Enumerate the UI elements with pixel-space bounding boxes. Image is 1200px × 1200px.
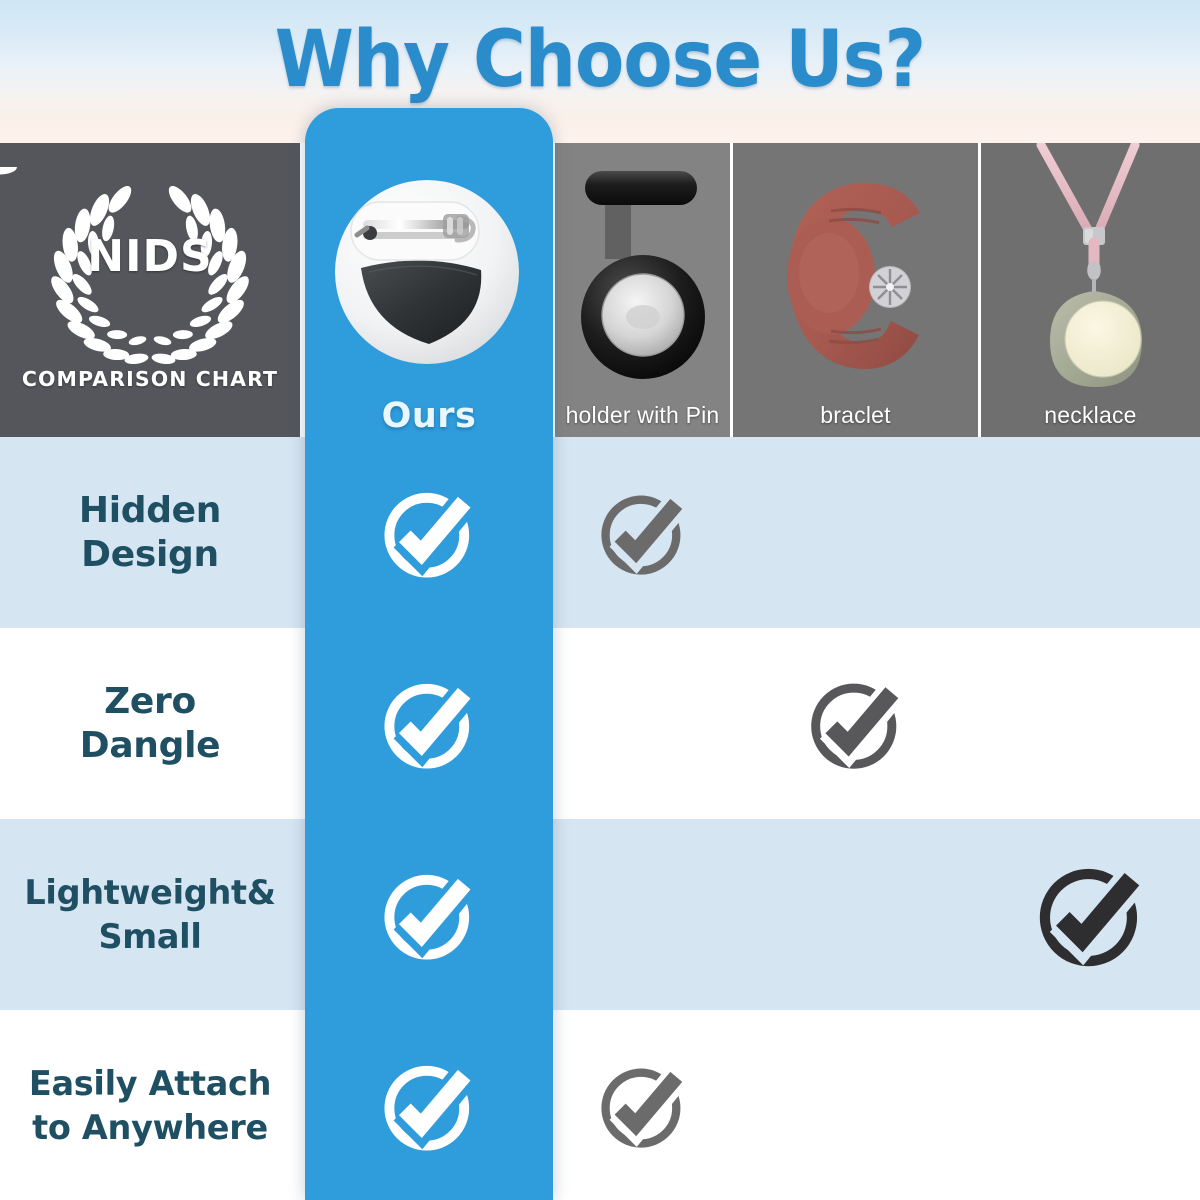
- product-label-bracelet: braclet: [733, 402, 978, 429]
- lanyard-necklace-pendant-icon: [1025, 143, 1165, 398]
- feature-label-zero-dangle: Zero Dangle: [0, 628, 300, 819]
- check-cell-pin: [555, 437, 730, 628]
- feature-label-line1: Easily Attach: [29, 1064, 271, 1103]
- check-circle-icon: [374, 669, 484, 779]
- product-cell-necklace: necklace: [981, 143, 1200, 437]
- feature-label-line2: Small: [98, 917, 201, 956]
- brand-logo-cell: NIDS COMPARISON CHART: [0, 143, 300, 437]
- feature-label-line1: Lightweight&: [24, 873, 275, 912]
- feature-label-lightweight-small: Lightweight& Small: [0, 819, 300, 1010]
- product-label-necklace: necklace: [981, 402, 1200, 429]
- feature-label-line1: Zero: [104, 681, 196, 722]
- comparison-chart-infographic: Why Choose Us?: [0, 0, 1200, 1200]
- silicone-bracelet-icon: [773, 169, 938, 389]
- check-cell-ours: [305, 628, 553, 819]
- title-banner: Why Choose Us?: [0, 0, 1200, 143]
- feature-label-easily-attach: Easily Attach to Anywhere: [0, 1010, 300, 1200]
- check-circle-icon: [800, 668, 912, 780]
- feature-rows: Hidden Design: [0, 437, 1200, 1200]
- check-circle-icon: [1027, 851, 1155, 979]
- page-title: Why Choose Us?: [48, 14, 1152, 106]
- table-row: Easily Attach to Anywhere: [0, 1010, 1200, 1200]
- table-row: Hidden Design: [0, 437, 1200, 628]
- brand-name: NIDS: [0, 231, 300, 282]
- check-cell-necklace: [981, 819, 1200, 1010]
- airtag-pin-holder-white-icon: [323, 160, 535, 377]
- product-header-row: NIDS COMPARISON CHART: [0, 143, 1200, 437]
- check-cell-necklace: [981, 437, 1200, 628]
- check-cell-pin: [555, 1010, 730, 1200]
- feature-label-line2: to Anywhere: [32, 1108, 268, 1147]
- check-circle-icon: [591, 481, 695, 585]
- laurel-wreath-icon: [0, 167, 300, 397]
- check-cell-pin: [555, 819, 730, 1010]
- check-cell-necklace: [981, 1010, 1200, 1200]
- check-cell-ours: [305, 819, 553, 1010]
- feature-label-line1: Hidden: [79, 490, 221, 531]
- airtag-black-pin-holder-icon: [577, 165, 709, 395]
- check-cell-pin: [555, 628, 730, 819]
- check-cell-necklace: [981, 628, 1200, 819]
- check-circle-icon: [374, 860, 484, 970]
- product-cell-pin: holder with Pin: [555, 143, 730, 437]
- check-cell-bracelet: [733, 628, 978, 819]
- check-circle-icon: [374, 1051, 484, 1161]
- table-row: Lightweight& Small: [0, 819, 1200, 1010]
- feature-label-line2: Dangle: [80, 725, 221, 766]
- brand-subtitle: COMPARISON CHART: [0, 367, 300, 391]
- check-cell-ours: [305, 1010, 553, 1200]
- product-label-ours: Ours: [305, 396, 553, 436]
- check-cell-bracelet: [733, 819, 978, 1010]
- check-cell-bracelet: [733, 1010, 978, 1200]
- product-label-pin: holder with Pin: [555, 402, 730, 429]
- feature-label-line2: Design: [81, 534, 219, 575]
- check-cell-bracelet: [733, 437, 978, 628]
- check-circle-icon: [374, 478, 484, 588]
- check-cell-ours: [305, 437, 553, 628]
- table-row: Zero Dangle: [0, 628, 1200, 819]
- product-cell-bracelet: braclet: [733, 143, 978, 437]
- check-circle-icon: [591, 1054, 695, 1158]
- feature-label-hidden-design: Hidden Design: [0, 437, 300, 628]
